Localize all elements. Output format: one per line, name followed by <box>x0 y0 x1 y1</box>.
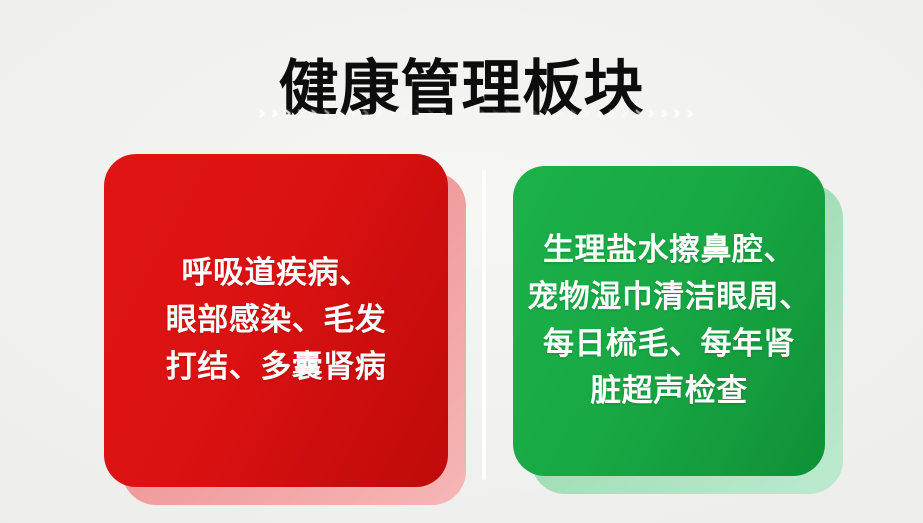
card-red-text: 呼吸道疾病、 眼部感染、毛发 打结、多囊肾病 <box>104 250 448 391</box>
card-green-text: 生理盐水擦鼻腔、 宠物湿巾清洁眼周、 每日梳毛、每年肾 脏超声检查 <box>513 227 825 415</box>
vertical-divider-rule <box>482 170 486 480</box>
cards-container: 呼吸道疾病、 眼部感染、毛发 打结、多囊肾病 生理盐水擦鼻腔、 宠物湿巾清洁眼周… <box>0 0 923 523</box>
card-red[interactable]: 呼吸道疾病、 眼部感染、毛发 打结、多囊肾病 <box>104 154 448 487</box>
slide-canvas: 健康管理板块 ›››››››››››››››››››››››››››››››››… <box>0 0 923 523</box>
card-green-surface[interactable]: 生理盐水擦鼻腔、 宠物湿巾清洁眼周、 每日梳毛、每年肾 脏超声检查 <box>513 166 825 476</box>
card-red-surface[interactable]: 呼吸道疾病、 眼部感染、毛发 打结、多囊肾病 <box>104 154 448 487</box>
card-green[interactable]: 生理盐水擦鼻腔、 宠物湿巾清洁眼周、 每日梳毛、每年肾 脏超声检查 <box>513 166 825 476</box>
